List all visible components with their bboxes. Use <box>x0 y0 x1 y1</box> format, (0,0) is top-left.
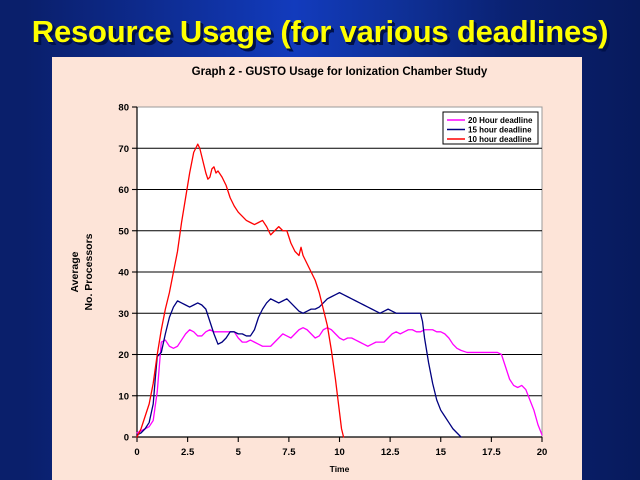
legend-label: 10 hour deadline <box>468 135 532 144</box>
usage-line-chart: Graph 2 - GUSTO Usage for Ionization Cha… <box>52 57 582 480</box>
y-tick-label: 30 <box>118 309 129 320</box>
x-tick-label: 20 <box>537 447 548 458</box>
x-tick-label: 7.5 <box>282 447 296 458</box>
chart-title: Graph 2 - GUSTO Usage for Ionization Cha… <box>192 66 488 78</box>
x-tick-label: 2.5 <box>181 447 195 458</box>
x-axis-label: Time <box>330 464 350 474</box>
y-axis-label-line: Average <box>69 251 81 292</box>
x-tick-label: 0 <box>134 447 139 458</box>
x-tick-label: 5 <box>236 447 242 458</box>
y-tick-label: 40 <box>118 268 129 279</box>
page-title: Resource Usage (for various deadlines) <box>0 14 640 50</box>
x-tick-label: 10 <box>334 447 345 458</box>
y-tick-label: 80 <box>118 103 129 114</box>
legend-label: 20 Hour deadline <box>468 116 533 125</box>
y-tick-label: 20 <box>118 350 129 361</box>
y-tick-label: 10 <box>118 391 129 402</box>
y-tick-label: 0 <box>124 433 129 444</box>
x-tick-label: 15 <box>435 447 446 458</box>
y-tick-label: 50 <box>118 226 129 237</box>
x-tick-label: 17.5 <box>482 447 501 458</box>
y-axis-label-line: No. Processors <box>83 233 95 310</box>
legend-label: 15 hour deadline <box>468 126 532 135</box>
chart-panel: Graph 2 - GUSTO Usage for Ionization Cha… <box>52 57 582 480</box>
y-tick-label: 70 <box>118 144 129 155</box>
y-tick-label: 60 <box>118 185 129 196</box>
x-tick-label: 12.5 <box>381 447 400 458</box>
slide: Resource Usage (for various deadlines) G… <box>0 0 640 480</box>
